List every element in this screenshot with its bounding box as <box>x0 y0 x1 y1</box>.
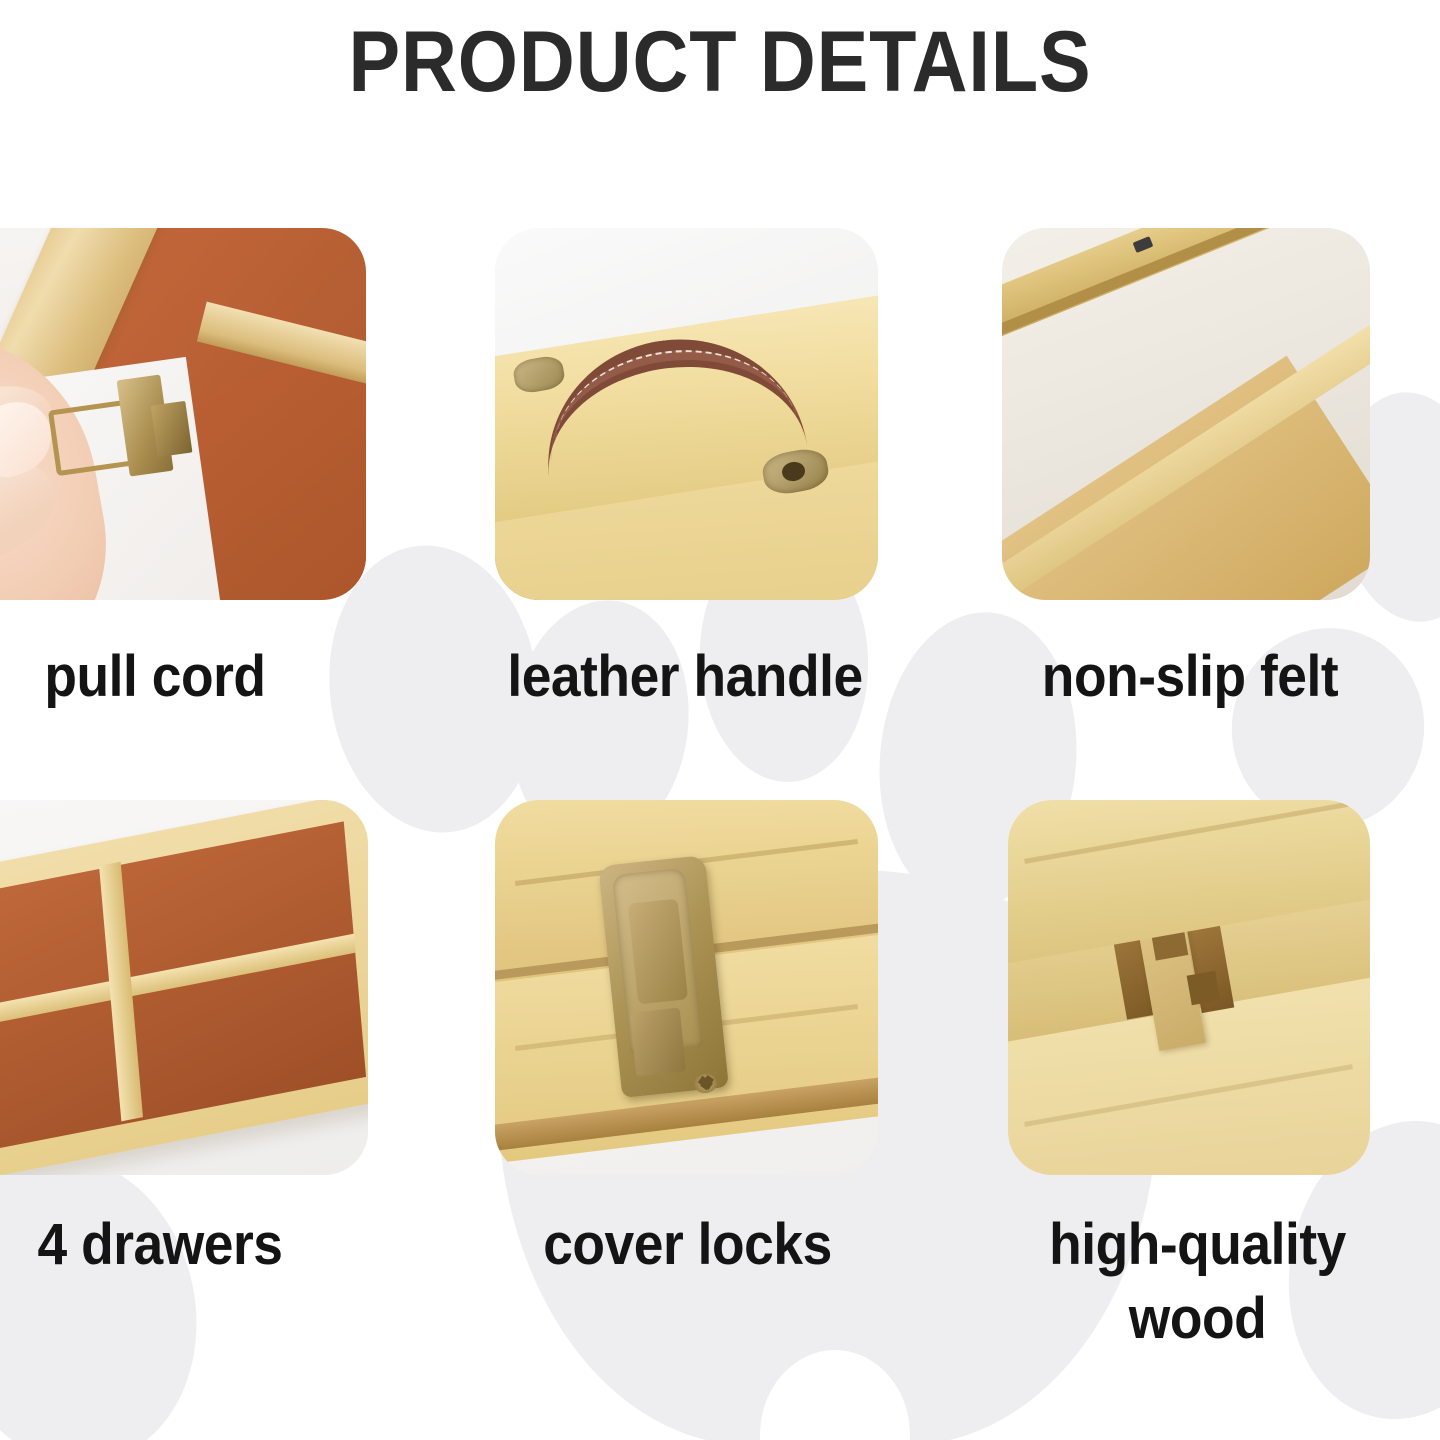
feature-image-non-slip-felt <box>1002 228 1370 600</box>
feature-caption-high-quality-wood: high-quality wood <box>1020 1208 1374 1356</box>
feature-image-cover-locks <box>495 800 878 1175</box>
feature-image-pull-cord <box>0 228 366 600</box>
paw-pad-notch <box>760 1350 910 1440</box>
photo-pull-cord <box>0 228 366 600</box>
feature-caption-leather-handle: leather handle <box>487 640 883 714</box>
photo-leather-handle <box>495 228 878 600</box>
feature-image-4-drawers <box>0 800 368 1175</box>
feature-caption-cover-locks: cover locks <box>492 1208 883 1282</box>
paw-toe-icon <box>0 1132 224 1440</box>
feature-image-high-quality-wood <box>1008 800 1370 1175</box>
photo-non-slip-felt <box>1002 228 1370 600</box>
feature-caption-pull-cord: pull cord <box>0 640 353 714</box>
photo-high-quality-wood <box>1008 800 1370 1175</box>
photo-4-drawers <box>0 800 368 1175</box>
photo-cover-locks <box>495 800 878 1175</box>
page-title: PRODUCT DETAILS <box>72 10 1368 114</box>
feature-caption-non-slip-felt: non-slip felt <box>1001 640 1378 714</box>
product-details-page: PRODUCT DETAILS <box>0 0 1440 1440</box>
feature-image-leather-handle <box>495 228 878 600</box>
feature-caption-4-drawers: 4 drawers <box>0 1208 362 1282</box>
